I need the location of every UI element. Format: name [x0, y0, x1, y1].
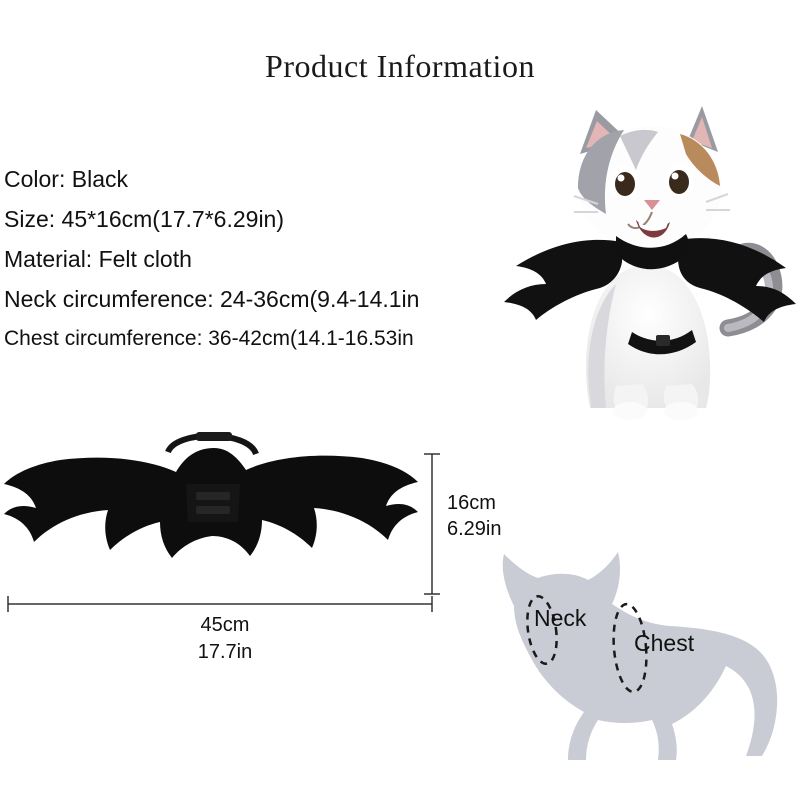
neck-measure-label: Neck — [534, 605, 586, 632]
height-cm: 16cm — [447, 490, 502, 516]
chest-measure-label: Chest — [634, 630, 694, 657]
width-dimension-label: 45cm 17.7in — [150, 612, 300, 666]
width-in: 17.7in — [150, 639, 300, 666]
spec-material: Material: Felt cloth — [4, 248, 524, 271]
width-cm: 45cm — [150, 612, 300, 639]
spec-size: Size: 45*16cm(17.7*6.29in) — [4, 208, 524, 231]
spec-neck-circumference: Neck circumference: 24-36cm(9.4-14.1in — [4, 288, 524, 311]
product-spec-list: Color: Black Size: 45*16cm(17.7*6.29in) … — [4, 168, 524, 366]
cat-wearing-bat-wings-photo — [470, 96, 800, 426]
cat-silhouette-diagram — [470, 520, 800, 800]
spec-chest-circumference: Chest circumference: 36-42cm(14.1-16.53i… — [4, 328, 524, 349]
spec-color: Color: Black — [4, 168, 524, 191]
page-title: Product Information — [0, 48, 800, 85]
